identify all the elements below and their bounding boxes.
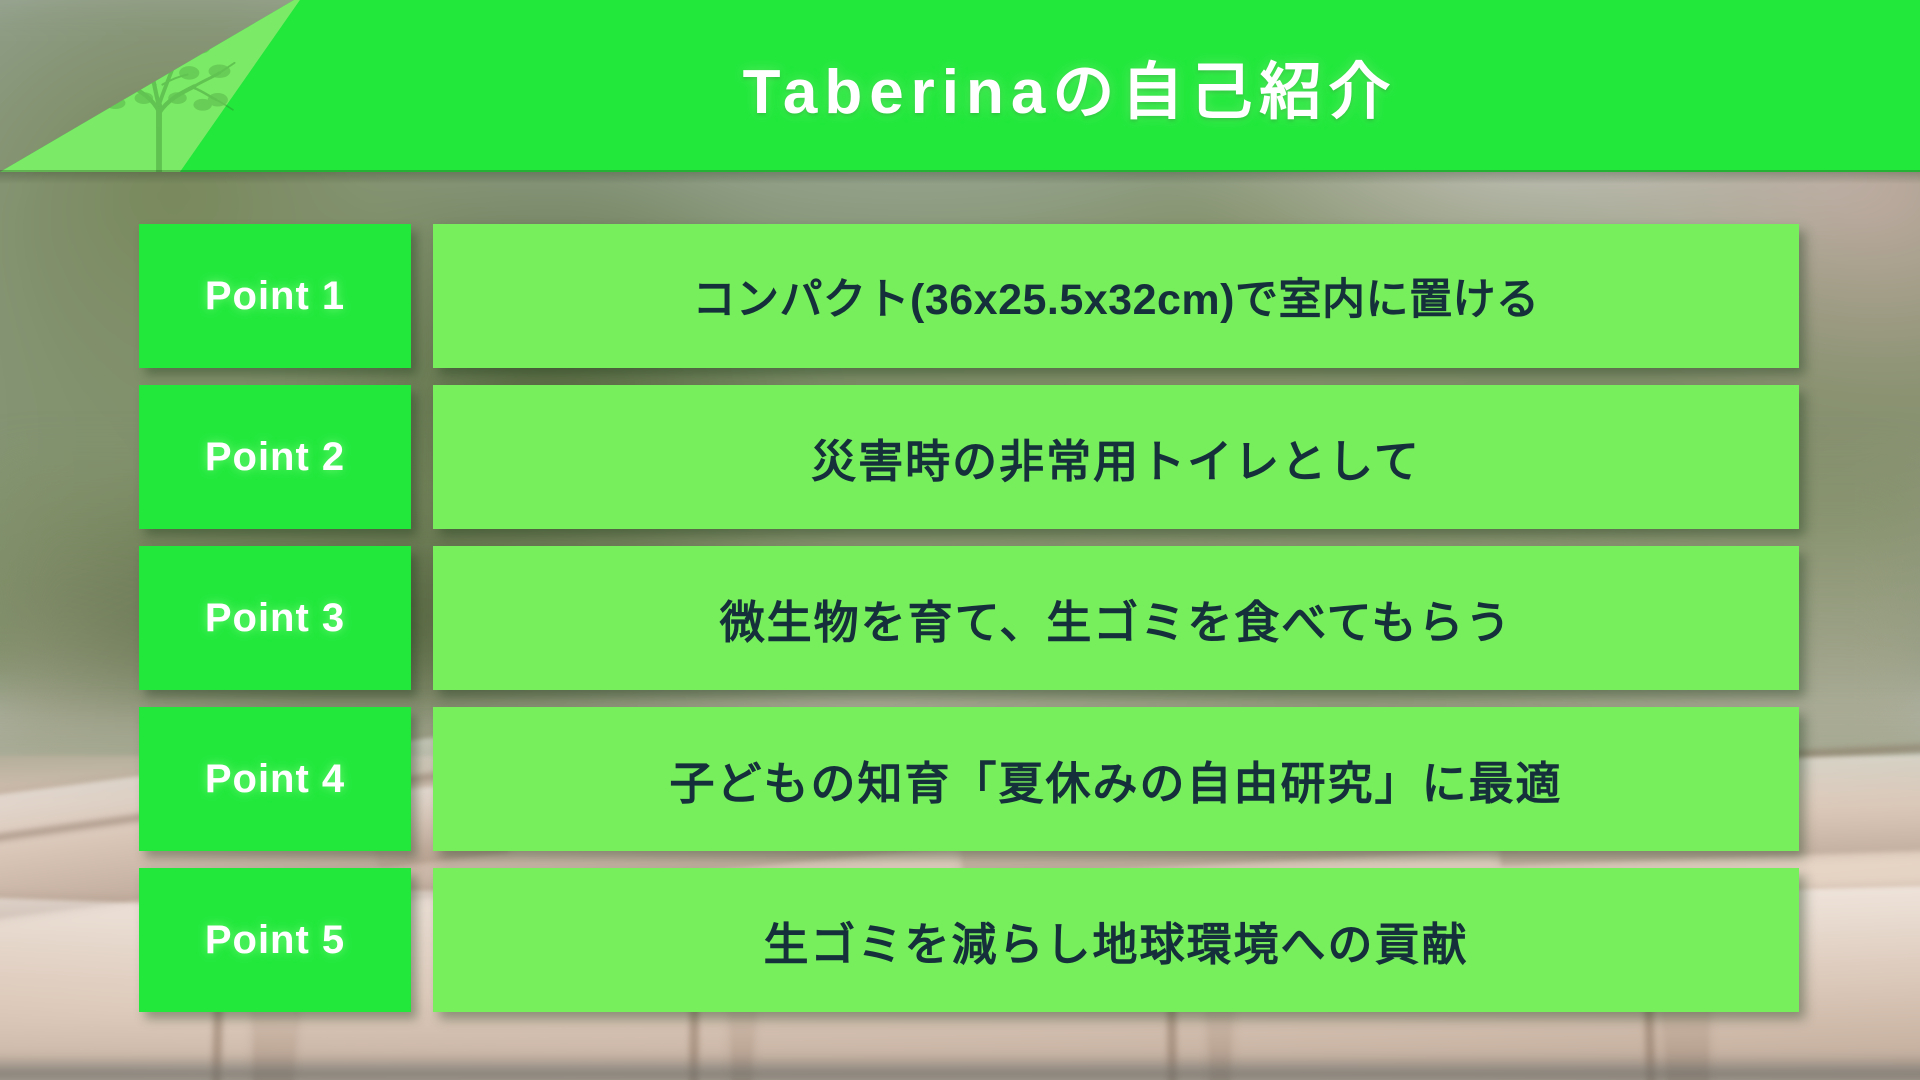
point-text-panel: 微生物を育て、生ゴミを食べてもらう: [433, 546, 1799, 690]
point-badge: Point 1: [139, 224, 411, 368]
point-badge: Point 2: [139, 385, 411, 529]
point-badge-label: Point 1: [205, 274, 345, 319]
point-text-panel: コンパクト(36x25.5x32cm)で室内に置ける: [433, 224, 1799, 368]
point-badge-label: Point 2: [205, 435, 345, 480]
list-item[interactable]: Point 2 災害時の非常用トイレとして: [139, 385, 1799, 529]
point-text-panel: 子どもの知育「夏休みの自由研究」に最適: [433, 707, 1799, 851]
list-item[interactable]: Point 4 子どもの知育「夏休みの自由研究」に最適: [139, 707, 1799, 851]
point-badge: Point 3: [139, 546, 411, 690]
point-text-panel: 災害時の非常用トイレとして: [433, 385, 1799, 529]
list-item[interactable]: Point 5 生ゴミを減らし地球環境への貢献: [139, 868, 1799, 1012]
point-badge-label: Point 5: [205, 918, 345, 963]
point-badge: Point 5: [139, 868, 411, 1012]
points-list: Point 1 コンパクト(36x25.5x32cm)で室内に置ける Point…: [0, 172, 1920, 1080]
list-item[interactable]: Point 1 コンパクト(36x25.5x32cm)で室内に置ける: [139, 224, 1799, 368]
point-badge-label: Point 3: [205, 596, 345, 641]
point-text-panel: 生ゴミを減らし地球環境への貢献: [433, 868, 1799, 1012]
slide-header: Taberinaの自己紹介: [0, 0, 1920, 172]
presentation-slide: Taberinaの自己紹介 Point 1 コンパクト(36x25.5x32cm…: [0, 0, 1920, 1080]
page-title: Taberinaの自己紹介: [300, 0, 1860, 172]
point-badge-label: Point 4: [205, 757, 345, 802]
list-item[interactable]: Point 3 微生物を育て、生ゴミを食べてもらう: [139, 546, 1799, 690]
point-badge: Point 4: [139, 707, 411, 851]
